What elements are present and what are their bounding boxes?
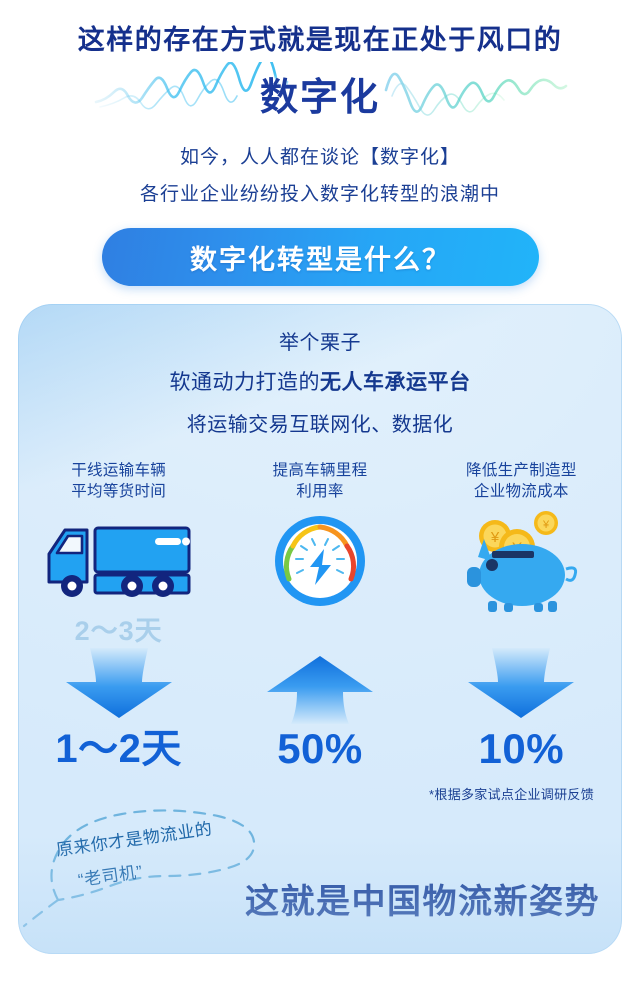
metric-after-value: 10% bbox=[479, 726, 565, 772]
metric-caption: 干线运输车辆 平均等货时间 bbox=[71, 460, 166, 506]
card-footnote: *根据多家试点企业调研反馈 bbox=[274, 784, 594, 803]
metric-caption-line-2: 企业物流成本 bbox=[466, 481, 577, 502]
metric-after-value: 1～2天 bbox=[55, 726, 182, 772]
metrics-row: 干线运输车辆 平均等货时间 bbox=[18, 460, 622, 800]
metric-column-speedometer: 提高车辆里程 利用率 bbox=[219, 460, 420, 800]
lead-line-2: 各行业企业纷纷投入数字化转型的浪潮中 bbox=[0, 179, 640, 206]
card-line-2-emphasis: 无人车承运平台 bbox=[320, 371, 471, 394]
card-line-3: 将运输交易互联网化、数据化 bbox=[18, 408, 622, 437]
card-line-2-plain: 软通动力打造的 bbox=[170, 371, 321, 394]
infographic-root: 这样的存在方式就是现在正处于风口的 bbox=[0, 0, 640, 982]
truck-icon bbox=[43, 512, 195, 610]
metric-column-truck: 干线运输车辆 平均等货时间 bbox=[18, 460, 219, 800]
metric-caption-line-1: 干线运输车辆 bbox=[71, 460, 166, 481]
metric-caption-line-2: 平均等货时间 bbox=[71, 481, 166, 502]
arrow-down-icon bbox=[462, 648, 580, 726]
arrow-down-icon bbox=[60, 648, 178, 726]
section-heading-label: 数字化转型是什么？ bbox=[190, 238, 451, 277]
metric-caption-line-1: 降低生产制造型 bbox=[466, 460, 577, 481]
tagline: 这就是中国物流新姿势 bbox=[245, 874, 600, 923]
metric-caption: 提高车辆里程 利用率 bbox=[273, 460, 368, 506]
metric-after-value: 50% bbox=[277, 726, 363, 772]
metric-caption-line-1: 提高车辆里程 bbox=[273, 460, 368, 481]
card-line-1: 举个栗子 bbox=[18, 326, 622, 355]
card-line-2: 软通动力打造的无人车承运平台 bbox=[18, 366, 622, 396]
content-card: 举个栗子 软通动力打造的无人车承运平台 将运输交易互联网化、数据化 干线运输车辆… bbox=[18, 304, 622, 954]
speedometer-icon bbox=[272, 512, 368, 610]
section-heading-pill[interactable]: 数字化转型是什么？ bbox=[102, 228, 539, 286]
arrow-up-icon bbox=[261, 648, 379, 726]
lead-line-1: 如今，人人都在谈论【数字化】 bbox=[0, 142, 640, 169]
page-keyword: 数字化 bbox=[0, 66, 640, 121]
svg-text:¥: ¥ bbox=[490, 529, 500, 546]
metric-before-value: 2～3天 bbox=[75, 614, 163, 648]
svg-text:¥: ¥ bbox=[542, 519, 550, 531]
metric-caption-line-2: 利用率 bbox=[273, 481, 368, 502]
metric-caption: 降低生产制造型 企业物流成本 bbox=[466, 460, 577, 506]
piggy-bank-icon: ¥ ¥ ¥ bbox=[462, 512, 580, 610]
metric-column-piggy-bank: 降低生产制造型 企业物流成本 ¥ ¥ ¥ bbox=[421, 460, 622, 800]
page-title: 这样的存在方式就是现在正处于风口的 bbox=[0, 18, 640, 57]
